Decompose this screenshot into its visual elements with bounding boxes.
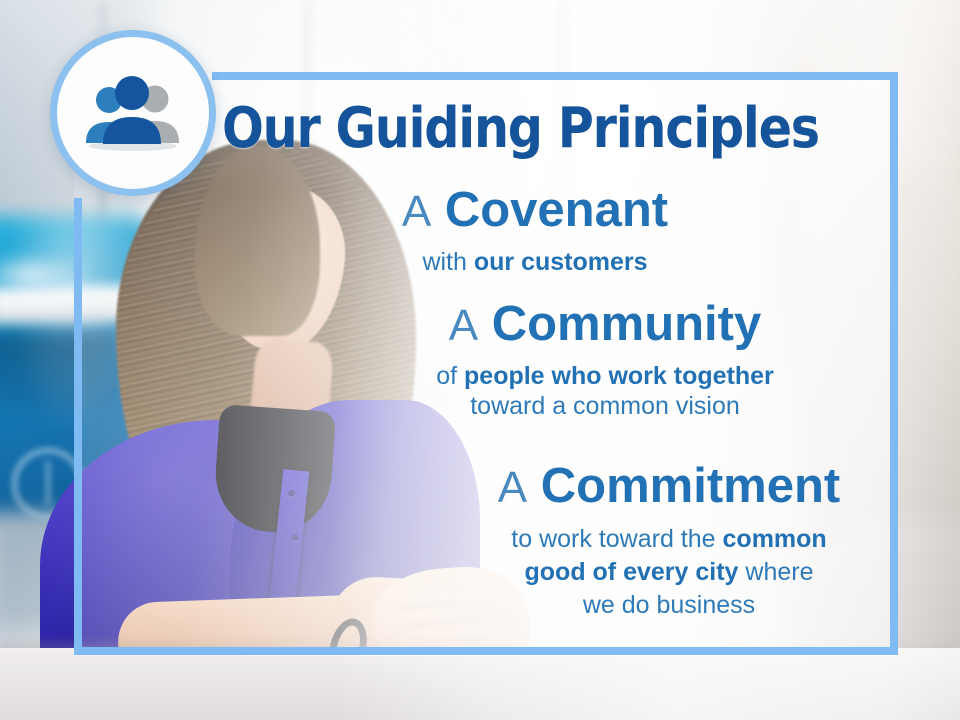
- principle-subtext-line: good of every city where: [444, 556, 894, 589]
- principle-keyword: Community: [492, 297, 762, 351]
- frame-border-top: [212, 72, 898, 80]
- principle-block-covenant: A Covenantwith our customers: [330, 186, 740, 277]
- people-badge: [50, 30, 216, 196]
- principle-keyword: Covenant: [445, 183, 668, 237]
- subtext-plain: where: [738, 558, 813, 586]
- principle-headline: A Covenant: [330, 186, 740, 236]
- principle-article: A: [449, 301, 478, 350]
- subtext-plain: we do business: [583, 591, 755, 619]
- principle-subtext: to work toward the commongood of every c…: [444, 523, 894, 622]
- principle-block-community: A Communityof people who work togetherto…: [380, 300, 830, 422]
- principle-headline: A Community: [380, 300, 830, 350]
- guiding-principles-poster: Our Guiding Principles A Covenantwith ou…: [0, 0, 960, 720]
- principle-keyword: Commitment: [541, 459, 840, 513]
- principle-subtext: of people who work togethertoward a comm…: [380, 361, 830, 422]
- subtext-plain: to work toward the: [511, 525, 722, 553]
- principle-article: A: [498, 463, 527, 512]
- principle-subtext-line: to work toward the common: [444, 523, 894, 556]
- subtext-emphasis: people who work together: [464, 362, 774, 390]
- people-group-icon: [81, 74, 185, 152]
- frame-border-bottom: [74, 647, 898, 655]
- subtext-plain: with: [422, 248, 473, 276]
- shirt-button: [288, 490, 295, 497]
- frame-border-left: [74, 198, 82, 655]
- principle-subtext-line: of people who work together: [380, 361, 830, 392]
- subtext-emphasis: common: [723, 525, 827, 553]
- page-title: Our Guiding Principles: [222, 96, 819, 161]
- principle-subtext-line: toward a common vision: [380, 391, 830, 422]
- principle-subtext-line: we do business: [444, 589, 894, 622]
- white-tabletop: [0, 648, 960, 720]
- principle-headline: A Commitment: [444, 462, 894, 512]
- principle-subtext-line: with our customers: [330, 247, 740, 278]
- subtext-emphasis: good of every city: [525, 558, 739, 586]
- principle-subtext: with our customers: [330, 247, 740, 278]
- shirt-button: [292, 534, 299, 541]
- subtext-emphasis: our customers: [474, 248, 648, 276]
- principle-block-commitment: A Commitmentto work toward the commongoo…: [444, 462, 894, 622]
- subtext-plain: of: [436, 362, 464, 390]
- car-shadow: [0, 330, 120, 410]
- subtext-plain: toward a common vision: [470, 392, 740, 420]
- principle-article: A: [402, 187, 431, 236]
